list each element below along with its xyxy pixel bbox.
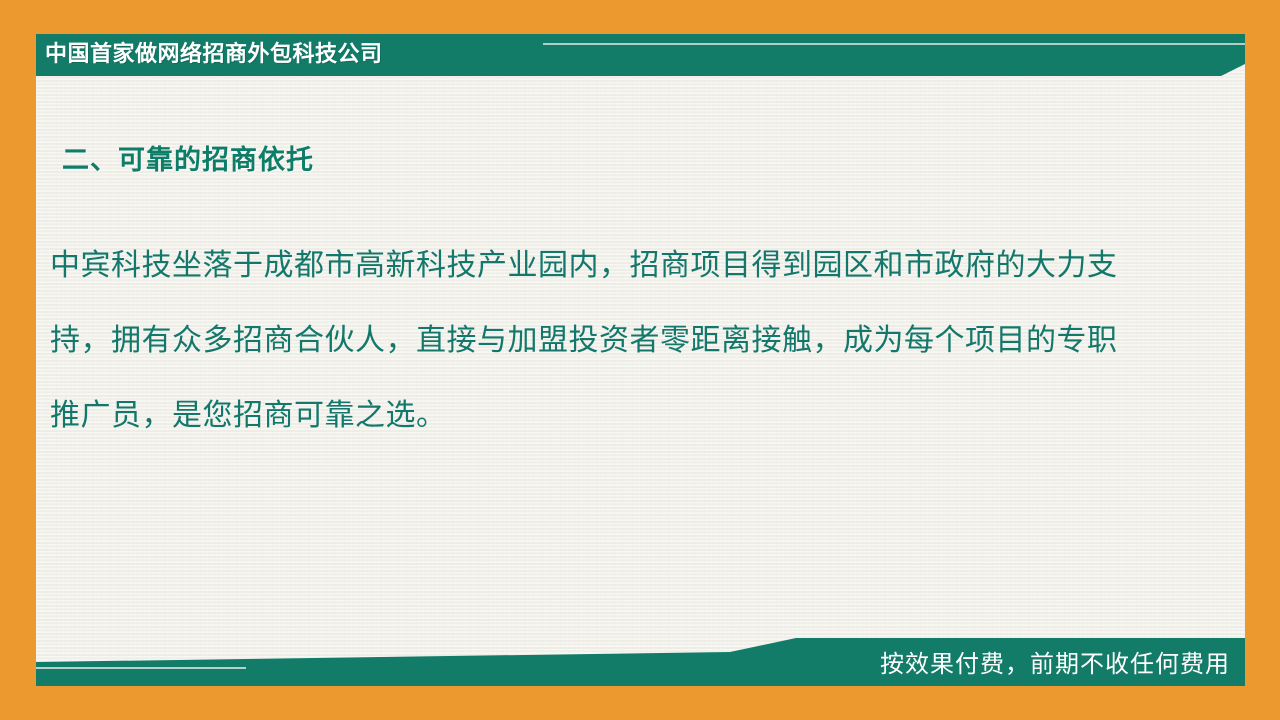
body-line-1: 中宾科技坐落于成都市高新科技产业园内，招商项目得到园区和市政府的大力支	[50, 228, 1190, 303]
footer-hairline	[36, 667, 246, 669]
frame-left	[0, 0, 36, 720]
frame-bottom	[0, 686, 1280, 720]
slide-canvas: 中国首家做网络招商外包科技公司 二、可靠的招商依托 中宾科技坐落于成都市高新科技…	[0, 0, 1280, 720]
body-line-2: 持，拥有众多招商合伙人，直接与加盟投资者零距离接触，成为每个项目的专职	[50, 303, 1190, 378]
header-band-upper	[473, 34, 1245, 40]
header-title: 中国首家做网络招商外包科技公司	[45, 36, 383, 72]
footer-tagline: 按效果付费，前期不收任何费用	[880, 646, 1230, 684]
header-hairline	[543, 43, 1245, 45]
body-line-3: 推广员，是您招商可靠之选。	[50, 378, 1190, 453]
frame-top	[0, 0, 1280, 34]
frame-right	[1245, 0, 1280, 720]
body-paragraph: 中宾科技坐落于成都市高新科技产业园内，招商项目得到园区和市政府的大力支 持，拥有…	[50, 228, 1190, 453]
section-title: 二、可靠的招商依托	[62, 138, 314, 177]
